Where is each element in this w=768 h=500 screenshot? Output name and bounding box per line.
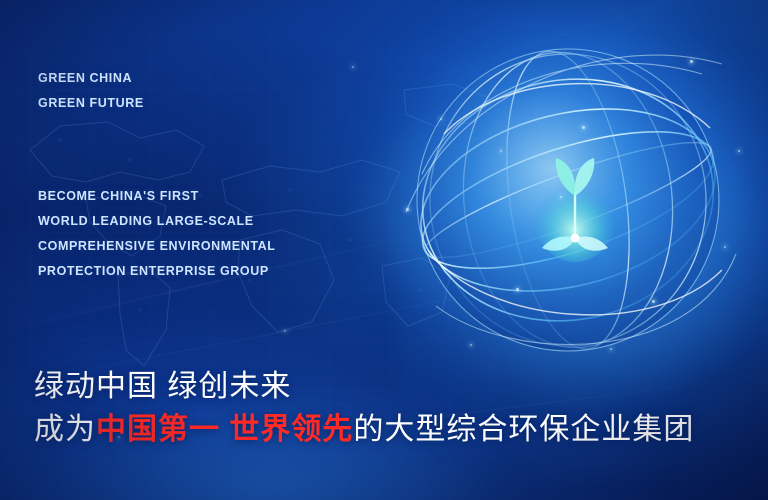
headline-line-2: 成为中国第一 世界领先的大型综合环保企业集团	[34, 408, 754, 452]
light-particle	[652, 300, 655, 303]
light-particle	[516, 288, 519, 291]
light-particle	[440, 118, 442, 120]
headline-line-1: 绿动中国 绿创未来	[34, 366, 754, 408]
statement-line-3: COMPREHENSIVE ENVIRONMENTAL	[38, 234, 398, 259]
english-statement: BECOME CHINA'S FIRST WORLD LEADING LARGE…	[38, 184, 398, 284]
light-particle	[724, 246, 726, 248]
wireframe-globe-icon	[392, 24, 744, 376]
light-particle	[690, 60, 693, 63]
statement-line-1: BECOME CHINA'S FIRST	[38, 184, 398, 209]
light-particle	[470, 344, 472, 346]
green-sprout-icon	[532, 152, 618, 264]
chinese-headline: 绿动中国 绿创未来 成为中国第一 世界领先的大型综合环保企业集团	[34, 366, 754, 452]
light-particle	[738, 150, 740, 152]
statement-line-4: PROTECTION ENTERPRISE GROUP	[38, 259, 398, 284]
light-particle	[406, 208, 409, 211]
english-tagline: GREEN CHINA GREEN FUTURE	[38, 66, 368, 116]
statement-line-2: WORLD LEADING LARGE-SCALE	[38, 209, 398, 234]
light-particle	[582, 126, 585, 129]
headline-part-prefix: 成为	[34, 413, 96, 446]
tagline-line-1: GREEN CHINA	[38, 66, 368, 91]
light-particle	[560, 196, 562, 198]
light-particle	[284, 330, 286, 332]
headline-part-highlight: 中国第一 世界领先	[96, 413, 353, 446]
light-particle	[500, 150, 502, 152]
headline-part-suffix: 的大型综合环保企业集团	[353, 413, 694, 446]
light-particle	[610, 348, 612, 350]
tagline-line-2: GREEN FUTURE	[38, 91, 368, 116]
hero-banner: GREEN CHINA GREEN FUTURE BECOME CHINA'S …	[0, 0, 768, 500]
